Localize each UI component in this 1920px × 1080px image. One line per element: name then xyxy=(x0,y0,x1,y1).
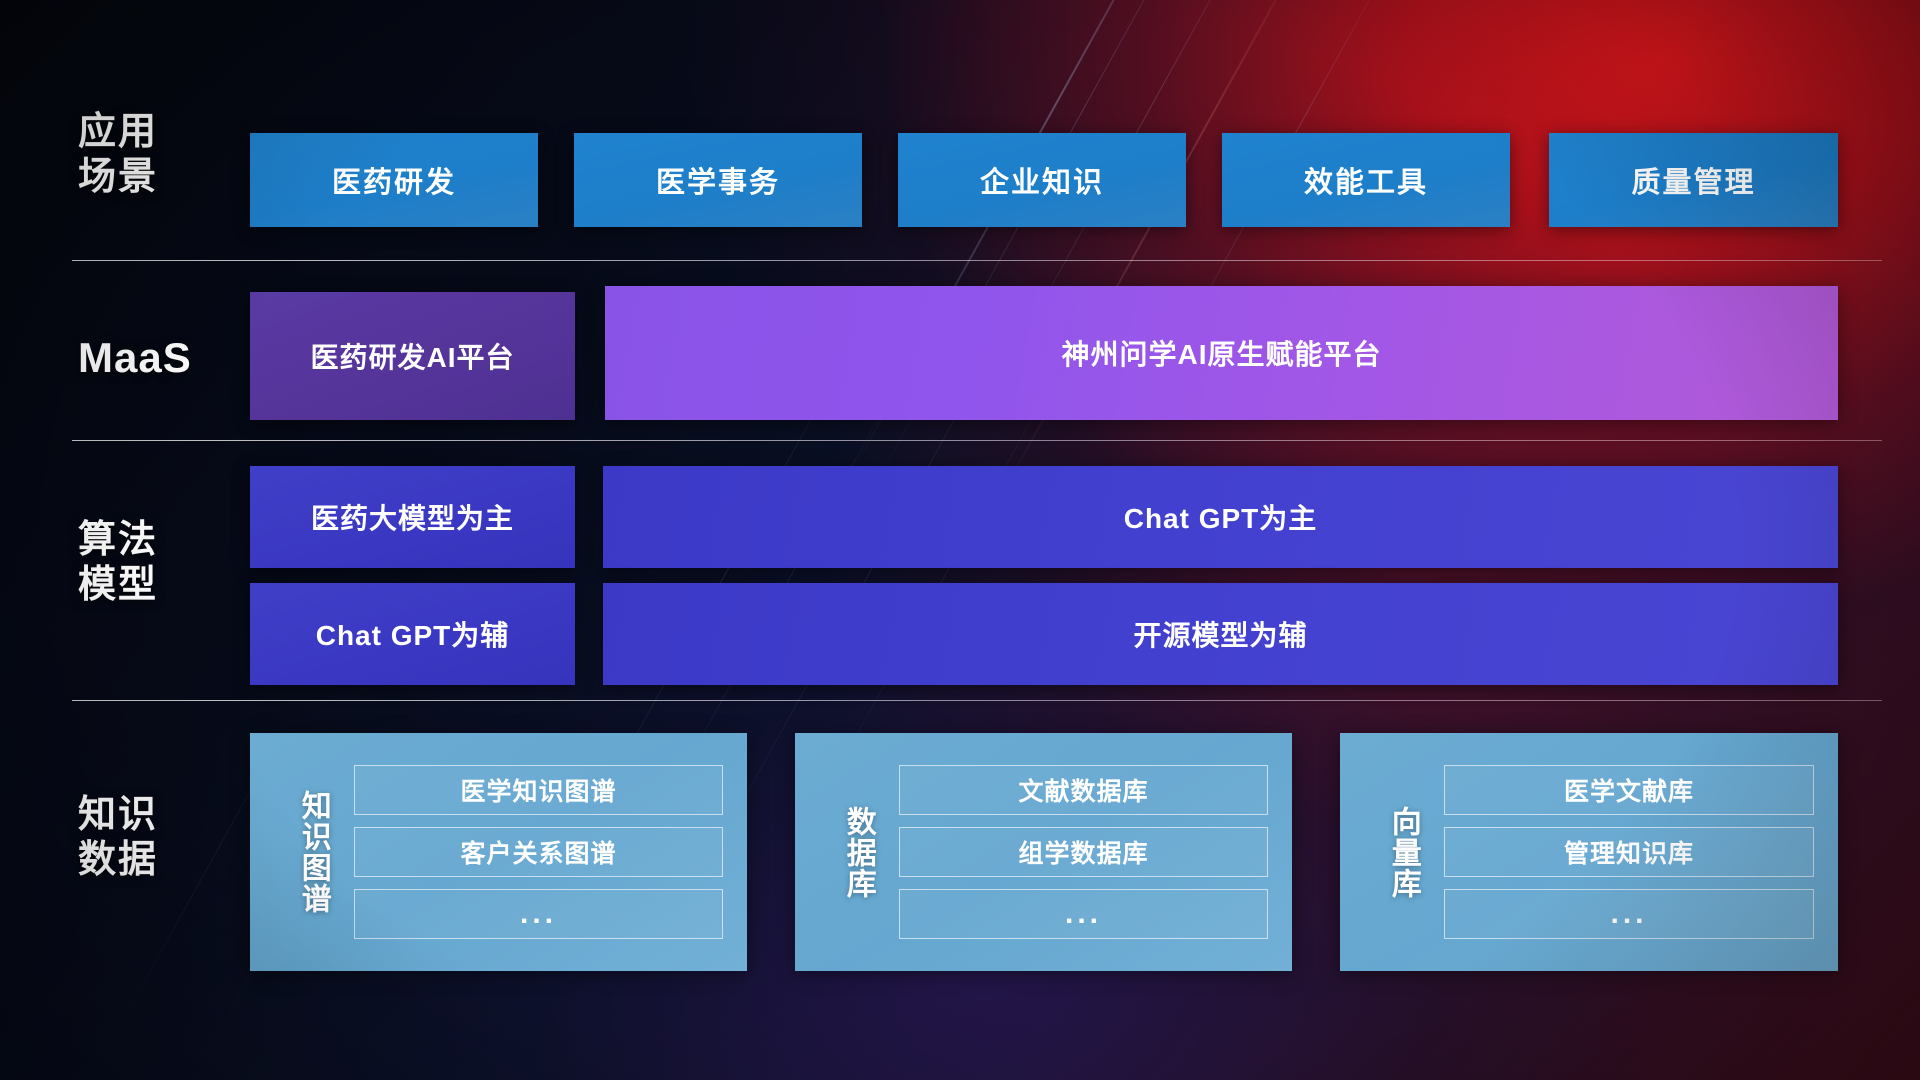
architecture-diagram-slide: 应用 场景 医药研发 医学事务 企业知识 效能工具 质量管理 MaaS 医药研发… xyxy=(0,0,1920,1080)
knowledge-group-vector-store[interactable]: 向量库 医学文献库 管理知识库 ... xyxy=(1340,733,1838,971)
row-label-algorithm-line2: 模型 xyxy=(78,563,248,608)
row-label-maas: MaaS xyxy=(78,333,248,383)
knowledge-item-3-1[interactable]: 医学文献库 xyxy=(1444,765,1814,815)
app-scenario-box-1[interactable]: 医药研发 xyxy=(250,133,538,227)
knowledge-item-3-2[interactable]: 管理知识库 xyxy=(1444,827,1814,877)
knowledge-item-3-3[interactable]: ... xyxy=(1444,889,1814,939)
knowledge-item-label-1-3: ... xyxy=(520,897,557,931)
app-scenario-label-2: 医学事务 xyxy=(656,159,780,201)
knowledge-item-label-3-1: 医学文献库 xyxy=(1564,772,1694,808)
app-scenario-label-3: 企业知识 xyxy=(980,159,1104,201)
knowledge-group-knowledge-graph[interactable]: 知识图谱 医学知识图谱 客户关系图谱 ... xyxy=(250,733,747,971)
app-scenario-label-5: 质量管理 xyxy=(1631,159,1755,201)
knowledge-group-title-2: 数据库 xyxy=(821,806,895,899)
knowledge-item-2-1[interactable]: 文献数据库 xyxy=(899,765,1268,815)
knowledge-item-2-2[interactable]: 组学数据库 xyxy=(899,827,1268,877)
knowledge-item-label-2-1: 文献数据库 xyxy=(1018,772,1148,808)
app-scenario-box-2[interactable]: 医学事务 xyxy=(574,133,862,227)
row-label-knowledge-line2: 数据 xyxy=(78,838,248,883)
app-scenario-label-4: 效能工具 xyxy=(1304,159,1428,201)
row-label-application: 应用 场景 xyxy=(78,110,248,200)
row-label-algorithm: 算法 模型 xyxy=(78,518,248,608)
row-label-application-line1: 应用 xyxy=(78,110,248,155)
knowledge-item-2-3[interactable]: ... xyxy=(899,889,1268,939)
knowledge-group-items-2: 文献数据库 组学数据库 ... xyxy=(895,747,1292,957)
knowledge-item-label-1-2: 客户关系图谱 xyxy=(460,834,616,870)
row-label-maas-text: MaaS xyxy=(78,333,248,383)
algorithm-right-box-2[interactable]: 开源模型为辅 xyxy=(603,583,1838,685)
maas-left-label: 医药研发AI平台 xyxy=(310,336,514,376)
divider-algorithm-knowledge xyxy=(72,700,1882,701)
knowledge-item-1-3[interactable]: ... xyxy=(354,889,723,939)
maas-platform-box[interactable]: 神州问学AI原生赋能平台 xyxy=(605,286,1838,420)
knowledge-item-label-3-2: 管理知识库 xyxy=(1564,834,1694,870)
knowledge-item-1-2[interactable]: 客户关系图谱 xyxy=(354,827,723,877)
algorithm-right-label-1: Chat GPT为主 xyxy=(1124,497,1318,537)
row-label-knowledge: 知识 数据 xyxy=(78,793,248,883)
row-label-algorithm-line1: 算法 xyxy=(78,518,248,563)
divider-application-maas xyxy=(72,260,1882,261)
maas-left-box[interactable]: 医药研发AI平台 xyxy=(250,292,575,420)
knowledge-item-label-3-3: ... xyxy=(1610,897,1647,931)
algorithm-right-box-1[interactable]: Chat GPT为主 xyxy=(603,466,1838,568)
app-scenario-box-5[interactable]: 质量管理 xyxy=(1549,133,1838,227)
app-scenario-box-3[interactable]: 企业知识 xyxy=(898,133,1186,227)
knowledge-item-label-1-1: 医学知识图谱 xyxy=(460,772,616,808)
app-scenario-label-1: 医药研发 xyxy=(332,159,456,201)
algorithm-left-box-2[interactable]: Chat GPT为辅 xyxy=(250,583,575,685)
app-scenario-box-4[interactable]: 效能工具 xyxy=(1222,133,1510,227)
row-label-application-line2: 场景 xyxy=(78,155,248,200)
maas-platform-label: 神州问学AI原生赋能平台 xyxy=(1061,333,1381,373)
knowledge-item-1-1[interactable]: 医学知识图谱 xyxy=(354,765,723,815)
algorithm-left-box-1[interactable]: 医药大模型为主 xyxy=(250,466,575,568)
knowledge-group-items-3: 医学文献库 管理知识库 ... xyxy=(1440,747,1838,957)
knowledge-item-label-2-3: ... xyxy=(1065,897,1102,931)
knowledge-group-database[interactable]: 数据库 文献数据库 组学数据库 ... xyxy=(795,733,1292,971)
knowledge-group-items-1: 医学知识图谱 客户关系图谱 ... xyxy=(350,747,747,957)
divider-maas-algorithm xyxy=(72,440,1882,441)
algorithm-right-label-2: 开源模型为辅 xyxy=(1133,614,1307,654)
algorithm-left-label-2: Chat GPT为辅 xyxy=(316,614,510,654)
knowledge-item-label-2-2: 组学数据库 xyxy=(1018,834,1148,870)
knowledge-group-title-1: 知识图谱 xyxy=(276,790,350,914)
row-label-knowledge-line1: 知识 xyxy=(78,793,248,838)
algorithm-left-label-1: 医药大模型为主 xyxy=(311,497,514,537)
knowledge-group-title-3: 向量库 xyxy=(1366,806,1440,899)
